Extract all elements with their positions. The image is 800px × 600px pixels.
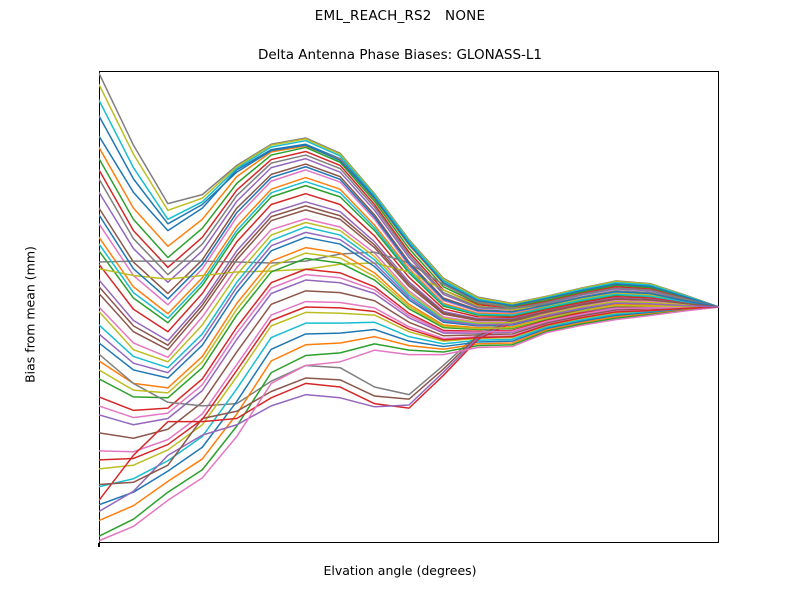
figure-suptitle: EML_REACH_RS2 NONE (0, 8, 800, 24)
line-series (99, 307, 719, 487)
x-axis-label: Elvation angle (degrees) (0, 563, 800, 578)
axes-title: Delta Antenna Phase Biases: GLONASS-L1 (0, 47, 800, 63)
line-series-group (99, 71, 719, 543)
line-series (99, 307, 719, 541)
line-series (99, 307, 719, 521)
line-series (99, 307, 719, 512)
matplotlib-figure: EML_REACH_RS2 NONE Delta Antenna Phase B… (0, 0, 800, 600)
y-axis-label: Bias from mean (mm) (23, 175, 38, 455)
plot-area (99, 71, 719, 543)
x-tick-mark (98, 543, 99, 547)
line-series (99, 307, 719, 485)
